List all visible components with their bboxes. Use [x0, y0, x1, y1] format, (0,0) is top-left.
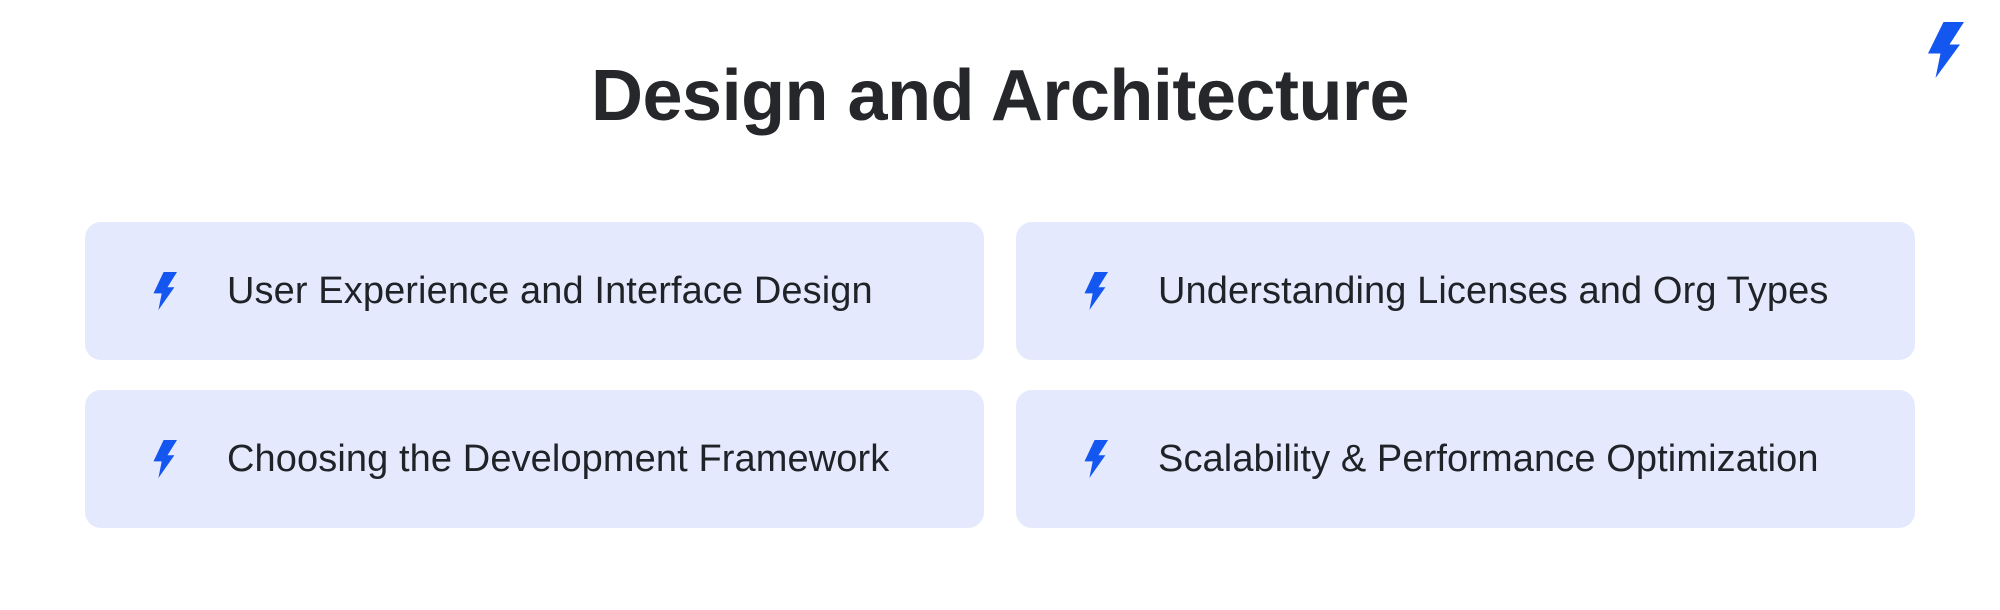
lightning-bolt-icon: [147, 272, 177, 310]
topic-card-user-experience-and-interface-design[interactable]: User Experience and Interface Design: [85, 222, 984, 360]
topic-card-label: Understanding Licenses and Org Types: [1158, 268, 1828, 314]
slide-canvas: Design and Architecture User Experience …: [0, 0, 2000, 610]
lightning-bolt-icon: [1078, 272, 1108, 310]
topic-card-scalability-and-performance-optimization[interactable]: Scalability & Performance Optimization: [1016, 390, 1915, 528]
topic-card-label: User Experience and Interface Design: [227, 268, 873, 314]
lightning-bolt-icon: [1078, 440, 1108, 478]
lightning-bolt-icon: [147, 440, 177, 478]
topic-card-understanding-licenses-and-org-types[interactable]: Understanding Licenses and Org Types: [1016, 222, 1915, 360]
topic-card-label: Choosing the Development Framework: [227, 436, 889, 482]
page-title: Design and Architecture: [0, 52, 2000, 140]
topic-card-label: Scalability & Performance Optimization: [1158, 436, 1819, 482]
topic-card-choosing-the-development-framework[interactable]: Choosing the Development Framework: [85, 390, 984, 528]
topic-card-grid: User Experience and Interface Design Und…: [85, 222, 1915, 528]
